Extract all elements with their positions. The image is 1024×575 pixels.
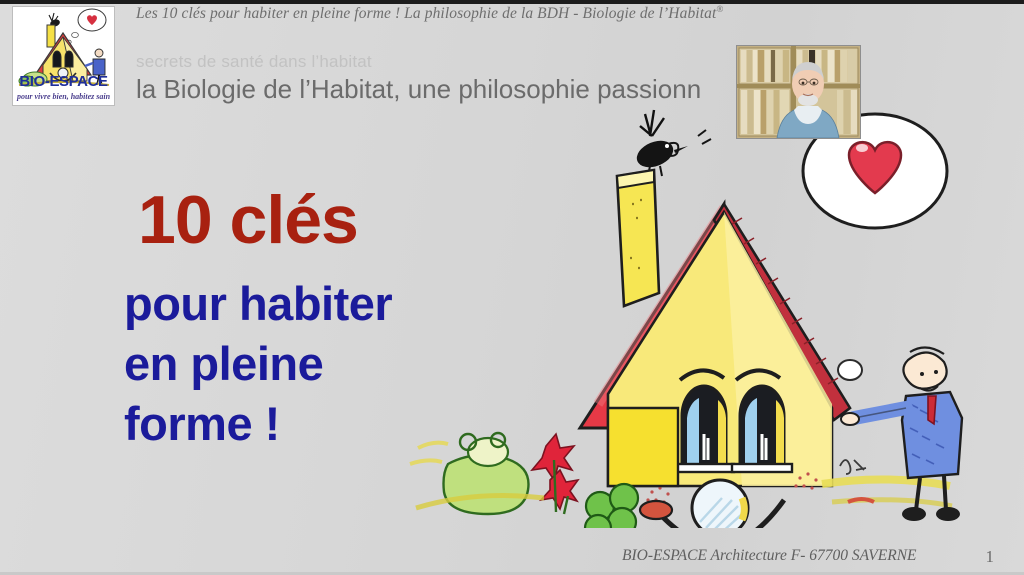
clover-icon [585, 484, 638, 528]
house-illustration-icon [402, 108, 1024, 528]
flower-icon [532, 434, 578, 514]
header-title-text: Les 10 clés pour habiter en pleine forme… [136, 5, 716, 22]
bio-espace-logo: BIO-ESPACE pour vivre bien, habitez sain [12, 6, 115, 106]
subtitle-small: secrets de santé dans l’habitat [136, 52, 372, 72]
registered-mark: ® [716, 4, 723, 14]
footer-organization: BIO-ESPACE Architecture F- 67700 SAVERNE [622, 547, 917, 565]
slide-header-title: Les 10 clés pour habiter en pleine forme… [136, 4, 936, 23]
house-illustration [402, 108, 1024, 528]
bird-icon [633, 110, 711, 176]
presentation-slide: BIO-ESPACE pour vivre bien, habitez sain… [0, 0, 1024, 575]
title-line-10-cles: 10 clés [138, 186, 392, 254]
artist-signature [840, 460, 866, 474]
webcam-video-frame [737, 46, 860, 138]
title-line-en-pleine: en pleine [124, 334, 392, 394]
title-line-pour-habiter: pour habiter [124, 274, 392, 334]
nose-window [692, 480, 748, 528]
subtitle-big: la Biologie de l’Habitat, une philosophi… [136, 74, 701, 105]
chimney-icon [617, 170, 659, 306]
main-title-block: 10 clés pour habiter en pleine forme ! [124, 186, 392, 454]
logo-tagline: pour vivre bien, habitez sain [13, 93, 114, 101]
presenter-webcam[interactable] [736, 45, 861, 139]
logo-house-icon [13, 7, 114, 105]
slide-top-border [0, 0, 1024, 4]
thought-bubble-medium-icon [838, 360, 862, 380]
logo-wordmark: BIO-ESPACE [13, 74, 114, 89]
page-number: 1 [986, 547, 995, 567]
title-line-forme: forme ! [124, 394, 392, 454]
